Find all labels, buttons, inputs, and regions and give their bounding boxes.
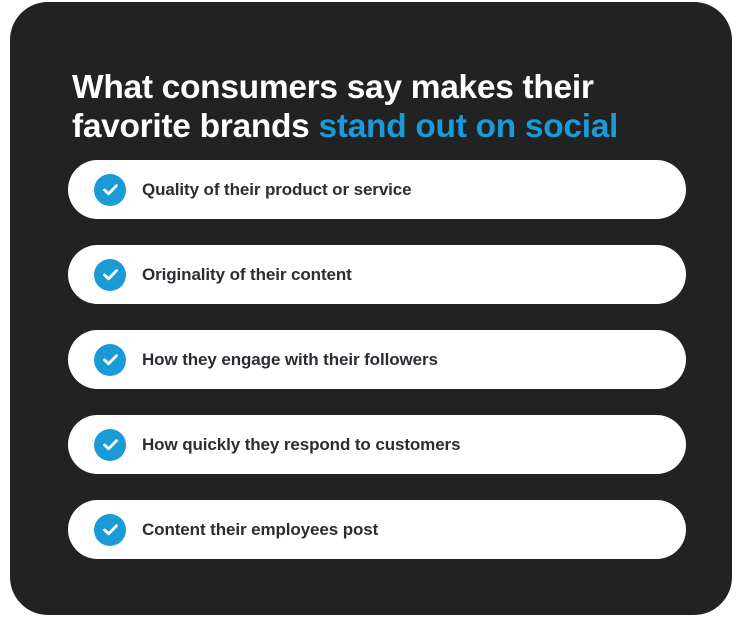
list-item[interactable]: Content their employees post — [68, 500, 686, 559]
check-circle-icon — [94, 344, 126, 376]
list-item-label: Quality of their product or service — [142, 180, 412, 200]
page-title-line-1: What consumers say makes their — [72, 68, 682, 107]
check-circle-icon — [94, 429, 126, 461]
list-item-label: How they engage with their followers — [142, 350, 438, 370]
list-item-label: How quickly they respond to customers — [142, 435, 460, 455]
page-title-line-2-plain: favorite brands — [72, 108, 319, 145]
page-title-accent: stand out on social — [319, 108, 619, 145]
list-item[interactable]: Originality of their content — [68, 245, 686, 304]
list-item[interactable]: How quickly they respond to customers — [68, 415, 686, 474]
list-item[interactable]: Quality of their product or service — [68, 160, 686, 219]
list-item[interactable]: How they engage with their followers — [68, 330, 686, 389]
list-item-label: Originality of their content — [142, 265, 352, 285]
list-item-label: Content their employees post — [142, 520, 378, 540]
check-circle-icon — [94, 259, 126, 291]
benefits-list: Quality of their product or service Orig… — [68, 160, 686, 559]
dark-panel: What consumers say makes their favorite … — [10, 2, 732, 615]
check-circle-icon — [94, 514, 126, 546]
check-circle-icon — [94, 174, 126, 206]
page-title-line-2: favorite brands stand out on social — [72, 107, 682, 146]
page-title: What consumers say makes their favorite … — [72, 68, 682, 146]
